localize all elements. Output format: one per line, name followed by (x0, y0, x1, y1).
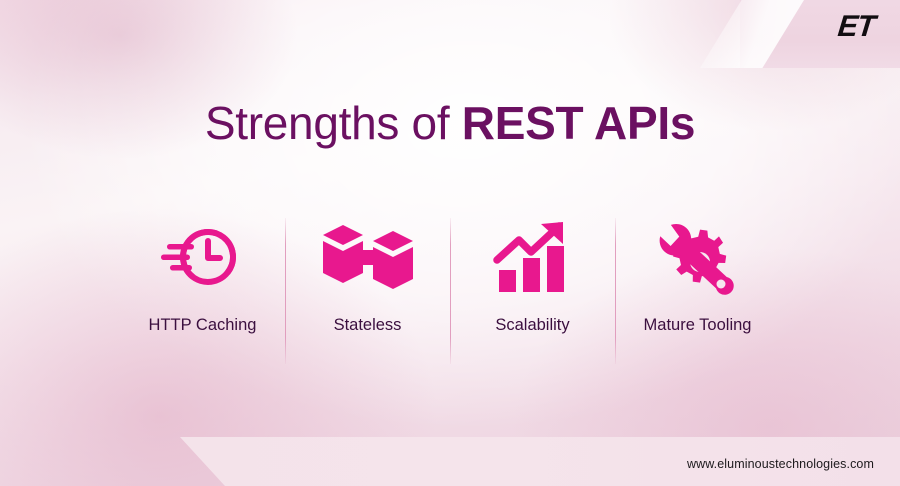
cubes-icon (321, 214, 415, 300)
strength-card-mature-tooling: Mature Tooling (615, 214, 780, 364)
et-logo: ET (836, 12, 875, 42)
strength-card-http-caching: HTTP Caching (120, 214, 285, 364)
page-title: Strengths of REST APIs (0, 98, 900, 149)
growth-chart-icon (493, 214, 573, 300)
strength-label: Scalability (495, 316, 569, 335)
strength-card-scalability: Scalability (450, 214, 615, 364)
wrench-gear-icon (656, 214, 740, 300)
strength-label: HTTP Caching (149, 316, 257, 335)
fast-clock-icon (161, 214, 245, 300)
footer-website-url: www.eluminoustechnologies.com (687, 457, 874, 471)
page-title-bold: REST APIs (462, 97, 695, 149)
strength-card-stateless: Stateless (285, 214, 450, 364)
strengths-list: HTTP Caching State (120, 214, 780, 364)
strength-label: Mature Tooling (644, 316, 752, 335)
page-title-regular: Strengths of (205, 97, 462, 149)
infographic-slide: ET Strengths of REST APIs HTTP Caching (0, 0, 900, 486)
strength-label: Stateless (334, 316, 402, 335)
